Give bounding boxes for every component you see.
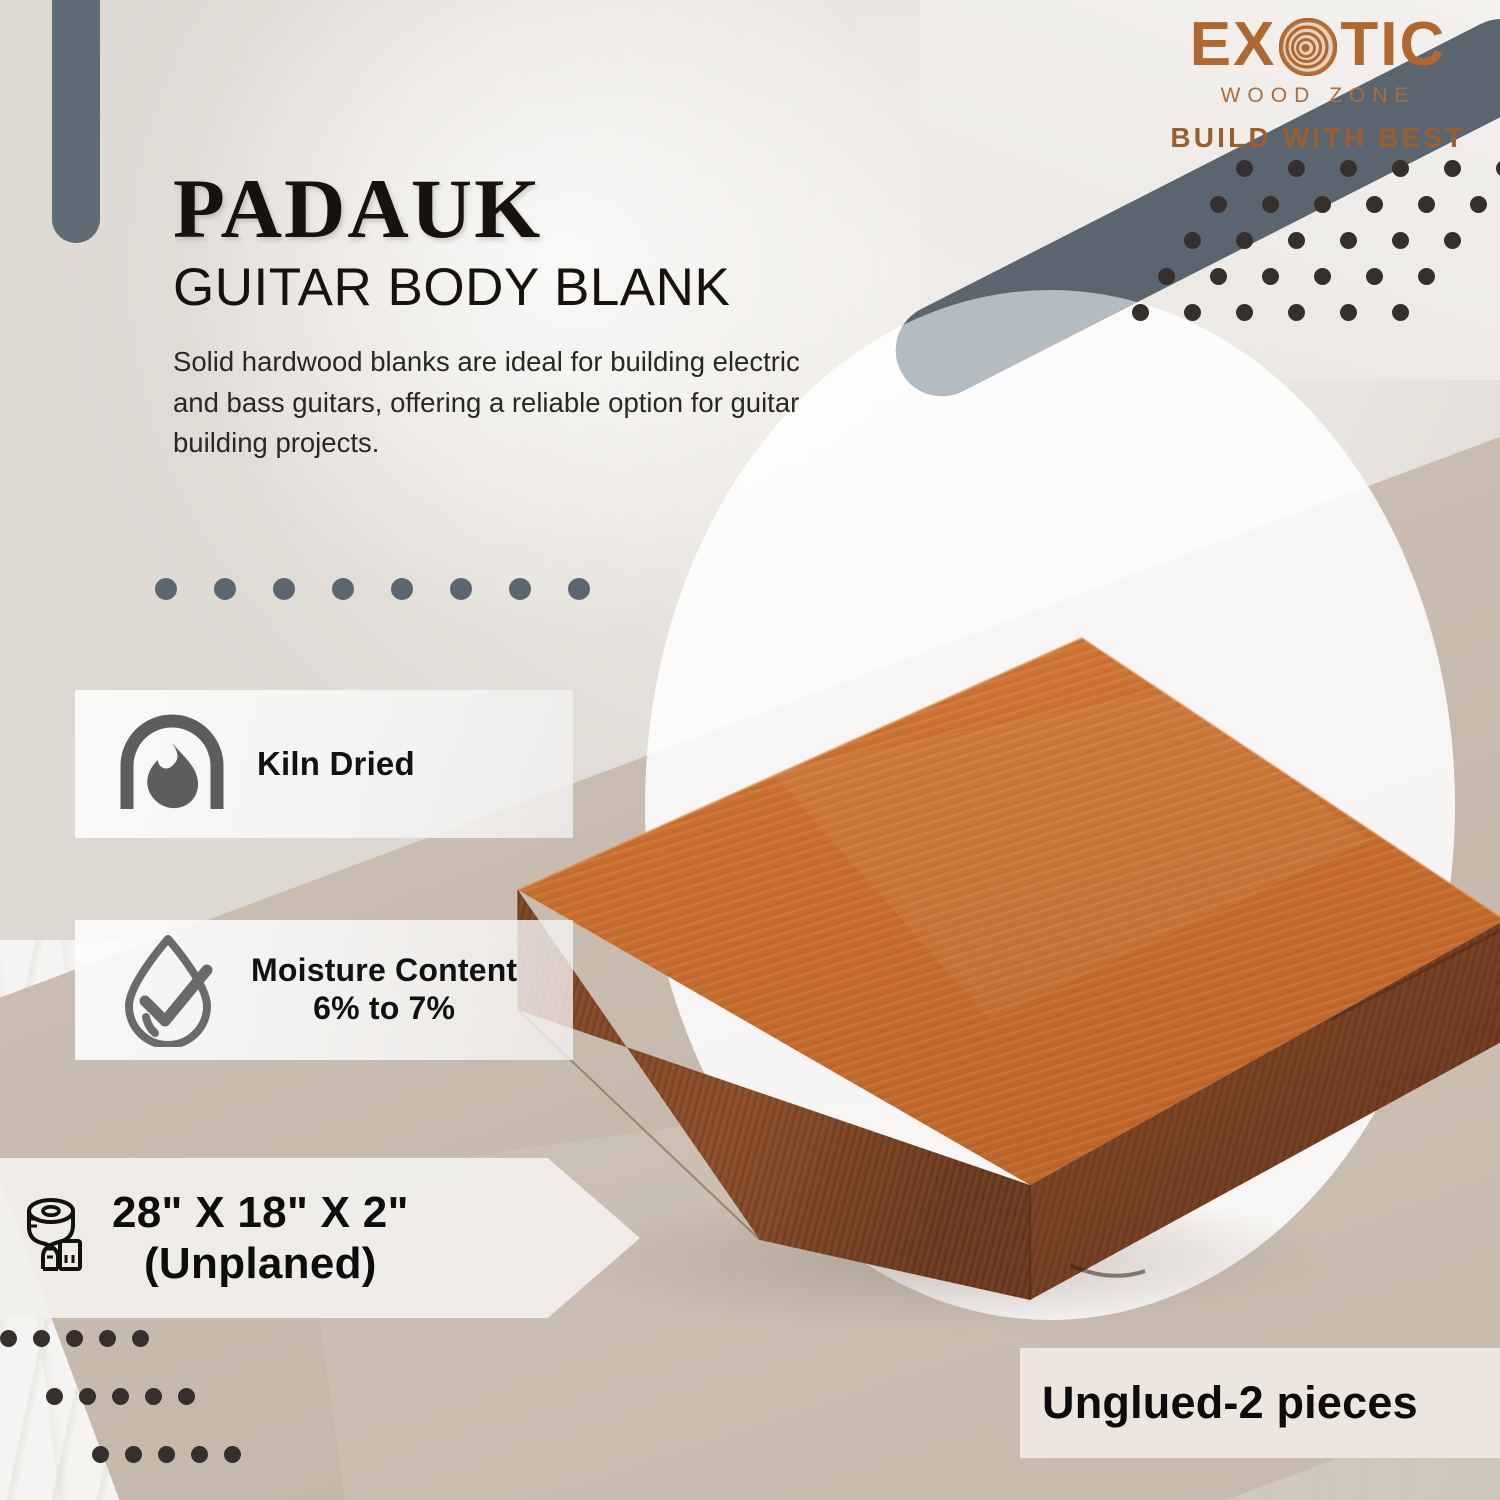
dot [145, 1388, 162, 1405]
feature-label: Moisture Content 6% to 7% [251, 952, 517, 1028]
feature-label-line2: 6% to 7% [251, 990, 517, 1028]
dot [66, 1330, 83, 1347]
product-description: Solid hardwood blanks are ideal for buil… [173, 342, 853, 463]
dot [1314, 196, 1331, 213]
dot-cluster-top-right [1236, 160, 1500, 360]
packaging-label: Unglued-2 pieces [1042, 1377, 1418, 1429]
dot [0, 1330, 17, 1347]
dot [1184, 232, 1201, 249]
dot [1288, 160, 1305, 177]
dot [568, 578, 590, 600]
dot [155, 578, 177, 600]
brand-wordmark: EX TIC [1158, 14, 1478, 76]
dot [92, 1446, 109, 1463]
dot [1288, 304, 1305, 321]
dot [1184, 304, 1201, 321]
dot [125, 1446, 142, 1463]
dot [1158, 268, 1175, 285]
dimensions-text: 28" X 18" X 2" (Unplaned) [112, 1187, 409, 1290]
dot [1496, 160, 1500, 177]
brand-logo: EX TIC WOOD ZONE BUILD WITH BEST [1158, 14, 1478, 154]
dot [1210, 196, 1227, 213]
brand-name-part2: TIC [1340, 14, 1446, 76]
water-drop-check-icon [113, 929, 225, 1052]
dot [1444, 232, 1461, 249]
product-infographic: EX TIC WOOD ZONE BUILD WITH BEST PADAUK … [0, 0, 1500, 1500]
feature-kiln-dried: Kiln Dried [75, 690, 573, 838]
page-subtitle: GUITAR BODY BLANK [173, 261, 873, 314]
page-title: PADAUK [173, 168, 873, 251]
dimensions-banner: 28" X 18" X 2" (Unplaned) [0, 1158, 640, 1318]
dot [1366, 268, 1383, 285]
feature-label-line1: Moisture Content [251, 952, 517, 988]
dot [46, 1388, 63, 1405]
dot [1262, 268, 1279, 285]
dot [79, 1388, 96, 1405]
decorative-dot-row [155, 578, 590, 600]
dot [1236, 160, 1253, 177]
kiln-flame-icon [113, 709, 231, 819]
packaging-banner: Unglued-2 pieces [1020, 1348, 1500, 1458]
dot [1418, 196, 1435, 213]
dot [1470, 196, 1487, 213]
headline-block: PADAUK GUITAR BODY BLANK Solid hardwood … [173, 168, 873, 464]
dot [450, 578, 472, 600]
brand-subtitle: WOOD ZONE [1158, 84, 1478, 108]
tree-ring-icon [1279, 18, 1337, 76]
dot [191, 1446, 208, 1463]
dot [1392, 160, 1409, 177]
feature-moisture-content: Moisture Content 6% to 7% [75, 920, 573, 1060]
dot [214, 578, 236, 600]
dot [1210, 268, 1227, 285]
dot [1392, 304, 1409, 321]
dot [1340, 304, 1357, 321]
dot [273, 578, 295, 600]
brand-name-part1: EX [1190, 14, 1277, 76]
dot [33, 1330, 50, 1347]
feature-label: Kiln Dried [257, 745, 415, 783]
dot [1314, 268, 1331, 285]
dot [1132, 304, 1149, 321]
tape-measure-icon [16, 1197, 92, 1280]
dot [1288, 232, 1305, 249]
dot [1418, 268, 1435, 285]
dot [1262, 196, 1279, 213]
dot [1444, 160, 1461, 177]
dot-cluster-bottom-left [0, 1330, 230, 1500]
dot [224, 1446, 241, 1463]
dot [178, 1388, 195, 1405]
dot [1236, 304, 1253, 321]
dot [509, 578, 531, 600]
dot [1236, 232, 1253, 249]
dot [1392, 232, 1409, 249]
dot [132, 1330, 149, 1347]
dot [99, 1330, 116, 1347]
dot [1340, 232, 1357, 249]
dimensions-size: 28" X 18" X 2" [112, 1188, 409, 1237]
dot [391, 578, 413, 600]
dimensions-note: (Unplaned) [112, 1238, 409, 1289]
left-accent-bar [52, 0, 100, 243]
dot [112, 1388, 129, 1405]
dot [158, 1446, 175, 1463]
dot [332, 578, 354, 600]
dot [1366, 196, 1383, 213]
brand-tagline: BUILD WITH BEST [1158, 122, 1478, 154]
dot [1340, 160, 1357, 177]
